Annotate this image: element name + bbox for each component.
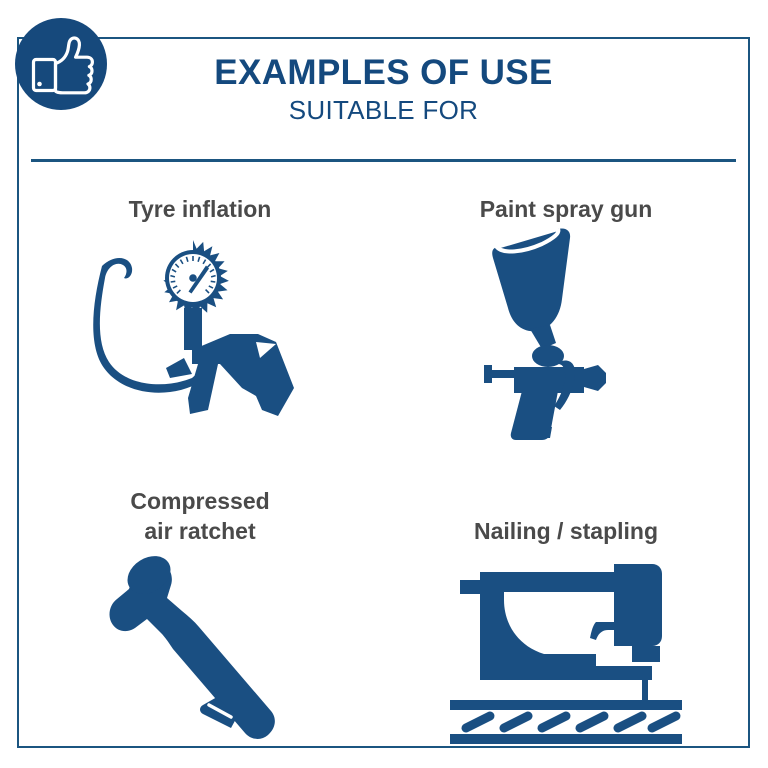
header-divider	[31, 159, 736, 162]
nailer-stapler-icon	[446, 554, 686, 744]
example-item-compressed-air-ratchet: Compressed air ratchet	[17, 459, 383, 748]
example-label: Tyre inflation	[17, 194, 383, 224]
example-item-tyre-inflation: Tyre inflation	[17, 170, 383, 459]
example-item-paint-spray-gun: Paint spray gun	[383, 170, 749, 459]
example-illustration	[17, 238, 383, 438]
compressed-air-ratchet-icon	[95, 547, 305, 747]
example-illustration	[17, 547, 383, 747]
thumbs-up-badge	[15, 18, 107, 110]
example-item-nailing-stapling: Nailing / stapling	[383, 459, 749, 748]
example-label: Nailing / stapling	[383, 516, 749, 546]
example-label: Paint spray gun	[383, 194, 749, 224]
examples-of-use-infographic: EXAMPLES OF USE SUITABLE FOR Tyre inflat…	[0, 0, 768, 768]
example-illustration	[383, 225, 749, 440]
example-label: Compressed air ratchet	[17, 486, 383, 546]
example-illustration	[383, 554, 749, 744]
paint-spray-gun-icon	[466, 225, 666, 440]
examples-grid: Tyre inflation	[17, 170, 750, 748]
thumbs-up-icon	[15, 18, 107, 110]
tyre-inflator-gun-icon	[80, 238, 320, 438]
